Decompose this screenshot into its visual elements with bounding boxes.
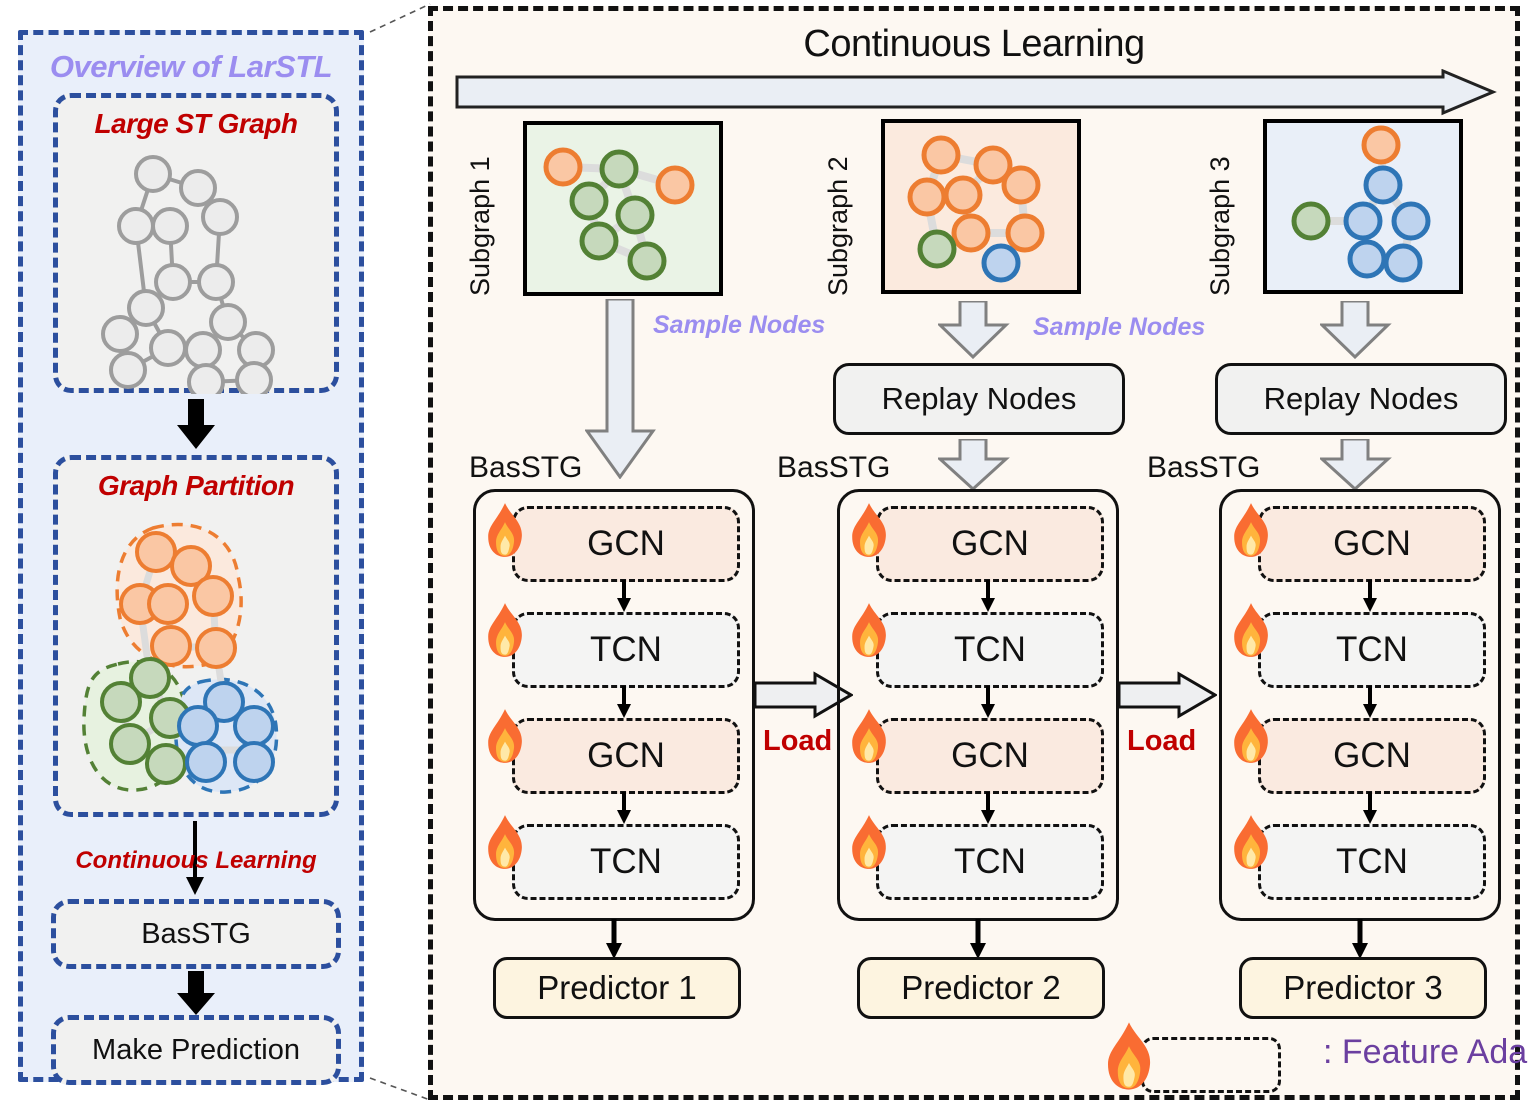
subgraph-1-to-model-arrow [585, 299, 657, 479]
graph-partition-illustration [58, 506, 344, 816]
basstg-label-1: BasSTG [469, 451, 582, 485]
subgraph-2-box [881, 119, 1081, 294]
basstg-model-3: GCN TCN GCN [1219, 489, 1501, 921]
arrow-basstg-to-prediction [175, 971, 217, 1017]
flame-icon [846, 708, 892, 764]
large-st-graph-box: Large ST Graph [53, 93, 339, 393]
layer-gcn-3a: GCN [1258, 506, 1486, 582]
make-prediction-box: Make Prediction [51, 1015, 341, 1085]
flame-icon [1228, 502, 1274, 558]
layer-tcn-2b: TCN [876, 824, 1104, 900]
replay-nodes-box-2: Replay Nodes [833, 363, 1125, 435]
model-to-predictor-arrow-1 [603, 919, 625, 961]
continuous-learning-label: Continuous Learning [35, 847, 357, 875]
subgraph-2-to-replay-arrow [938, 301, 1010, 359]
layer-tcn-1a: TCN [512, 612, 740, 688]
flame-icon [482, 708, 528, 764]
subgraph-2-label: Subgraph 2 [823, 121, 854, 296]
flame-icon [846, 602, 892, 658]
flame-icon [1101, 1021, 1157, 1091]
load-arrow-2 [1117, 671, 1217, 719]
replay-nodes-box-3: Replay Nodes [1215, 363, 1507, 435]
overview-panel-title: Overview of LarSTL [23, 49, 359, 85]
flame-icon [1228, 708, 1274, 764]
left-basstg-box: BasSTG [51, 899, 341, 969]
layer-arrow [978, 686, 998, 720]
flame-icon [846, 814, 892, 870]
layer-arrow [614, 686, 634, 720]
flame-icon [482, 814, 528, 870]
layer-arrow [1360, 580, 1380, 614]
layer-tcn-3b: TCN [1258, 824, 1486, 900]
model-to-predictor-arrow-3 [1349, 919, 1371, 961]
layer-arrow [978, 792, 998, 826]
subgraph-1-graph [527, 125, 719, 292]
layer-gcn-3b: GCN [1258, 718, 1486, 794]
layer-arrow [1360, 792, 1380, 826]
replay-to-model-arrow-3 [1320, 439, 1392, 491]
panel-connector-lines [360, 0, 436, 1106]
layer-tcn-3a: TCN [1258, 612, 1486, 688]
predictor-2-box: Predictor 2 [857, 957, 1105, 1019]
layer-gcn-1a: GCN [512, 506, 740, 582]
legend-label: : Feature Adaptor [1323, 1033, 1528, 1072]
flame-icon [846, 502, 892, 558]
arrow-graph-to-partition [175, 399, 217, 451]
graph-partition-box: Graph Partition [53, 455, 339, 817]
load-label-1: Load [763, 725, 832, 758]
replay-to-model-arrow-2 [938, 439, 1010, 491]
predictor-1-box: Predictor 1 [493, 957, 741, 1019]
timeline-arrow [455, 69, 1497, 117]
large-st-graph-heading: Large ST Graph [58, 108, 334, 140]
legend-adaptor-placeholder [1141, 1037, 1281, 1093]
basstg-model-1: GCN TCN GCN [473, 489, 755, 921]
model-to-predictor-arrow-2 [967, 919, 989, 961]
layer-arrow [614, 580, 634, 614]
subgraph-3-box [1263, 119, 1463, 294]
predictor-3-box: Predictor 3 [1239, 957, 1487, 1019]
layer-gcn-2a: GCN [876, 506, 1104, 582]
sample-nodes-label-2: Sample Nodes [1033, 313, 1205, 342]
basstg-model-2: GCN TCN GCN [837, 489, 1119, 921]
load-label-2: Load [1127, 725, 1196, 758]
subgraph-2-graph [885, 123, 1077, 290]
continuous-learning-title: Continuous Learning [433, 23, 1515, 66]
flame-icon [482, 602, 528, 658]
flame-icon [1228, 814, 1274, 870]
basstg-label-2: BasSTG [777, 451, 890, 485]
left-basstg-label: BasSTG [56, 904, 336, 964]
subgraph-3-graph [1267, 123, 1459, 290]
graph-partition-heading: Graph Partition [58, 470, 334, 502]
make-prediction-label: Make Prediction [56, 1020, 336, 1080]
layer-gcn-1b: GCN [512, 718, 740, 794]
layer-arrow [1360, 686, 1380, 720]
large-st-graph-illustration [58, 142, 344, 394]
sample-nodes-label-1: Sample Nodes [653, 311, 825, 340]
flame-icon [1228, 602, 1274, 658]
layer-arrow [978, 580, 998, 614]
basstg-label-3: BasSTG [1147, 451, 1260, 485]
subgraph-1-box [523, 121, 723, 296]
layer-tcn-2a: TCN [876, 612, 1104, 688]
subgraph-3-to-replay-arrow [1320, 301, 1392, 359]
subgraph-3-label: Subgraph 3 [1205, 121, 1236, 296]
method-panel: Continuous Learning Subgraph 1 [428, 6, 1520, 1100]
layer-gcn-2b: GCN [876, 718, 1104, 794]
layer-arrow [614, 792, 634, 826]
layer-tcn-1b: TCN [512, 824, 740, 900]
flame-icon [482, 502, 528, 558]
overview-panel: Overview of LarSTL Large ST Graph [18, 30, 364, 1082]
subgraph-1-label: Subgraph 1 [465, 121, 496, 296]
